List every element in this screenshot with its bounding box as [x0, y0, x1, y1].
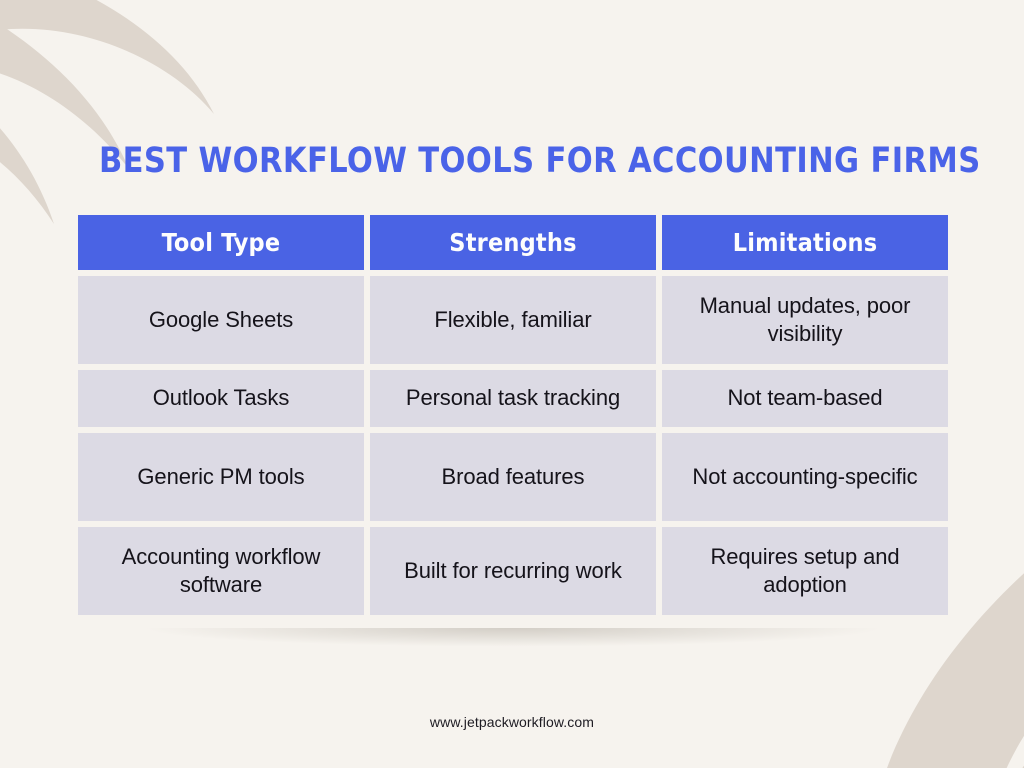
cell-tool-type: Outlook Tasks: [78, 370, 364, 427]
comparison-table: Tool Type Strengths Limitations Google S…: [78, 215, 948, 615]
table-row: Generic PM tools Broad features Not acco…: [78, 433, 948, 521]
table-drop-shadow: [86, 628, 940, 654]
cell-strengths: Built for recurring work: [370, 527, 656, 615]
footer-url: www.jetpackworkflow.com: [0, 714, 1024, 730]
table-row: Accounting workflow software Built for r…: [78, 527, 948, 615]
cell-strengths: Flexible, familiar: [370, 276, 656, 364]
cell-tool-type: Google Sheets: [78, 276, 364, 364]
page-title: BEST WORKFLOW TOOLS FOR ACCOUNTING FIRMS: [99, 141, 900, 181]
column-header-strengths: Strengths: [370, 215, 656, 270]
column-header-limitations: Limitations: [662, 215, 948, 270]
infographic-canvas: BEST WORKFLOW TOOLS FOR ACCOUNTING FIRMS…: [0, 0, 1024, 768]
cell-strengths: Personal task tracking: [370, 370, 656, 427]
cell-tool-type: Accounting workflow software: [78, 527, 364, 615]
table-row: Google Sheets Flexible, familiar Manual …: [78, 276, 948, 364]
table-row: Outlook Tasks Personal task tracking Not…: [78, 370, 948, 427]
leaf-decoration-top-left: [0, 0, 244, 244]
cell-tool-type: Generic PM tools: [78, 433, 364, 521]
cell-limitations: Not team-based: [662, 370, 948, 427]
cell-limitations: Requires setup and adoption: [662, 527, 948, 615]
cell-limitations: Not accounting-specific: [662, 433, 948, 521]
cell-limitations: Manual updates, poor visibility: [662, 276, 948, 364]
table-header-row: Tool Type Strengths Limitations: [78, 215, 948, 270]
cell-strengths: Broad features: [370, 433, 656, 521]
column-header-tool-type: Tool Type: [78, 215, 364, 270]
